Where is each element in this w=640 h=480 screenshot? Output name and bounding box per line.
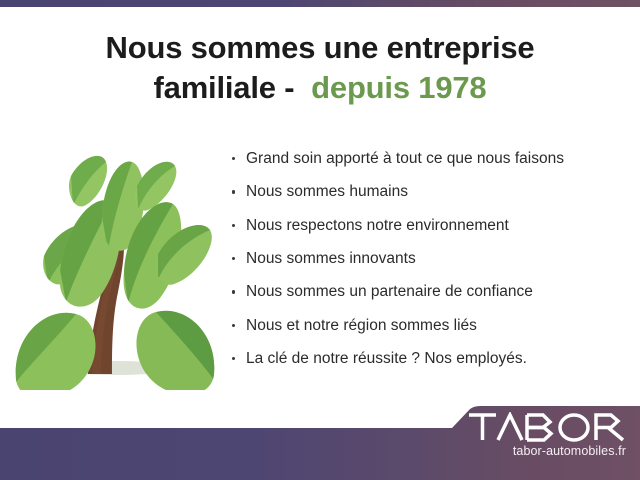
bullet-dot-icon <box>232 190 235 193</box>
list-item-label: Nous sommes humains <box>246 183 408 200</box>
tree-illustration <box>8 150 223 390</box>
brand-tagline: tabor-automobiles.fr <box>456 445 626 459</box>
tabor-logo-icon <box>456 412 626 442</box>
headline-prefix: familiale <box>154 70 276 105</box>
headline-line-2: familiale - depuis 1978 <box>0 68 640 108</box>
headline-accent: depuis 1978 <box>311 70 486 105</box>
list-item: Nous sommes humains <box>228 183 628 201</box>
list-item-label: Grand soin apporté à tout ce que nous fa… <box>246 150 564 167</box>
bullet-dot-icon <box>232 224 235 227</box>
list-item: Nous et notre région sommes liés <box>228 317 628 335</box>
marketing-slide: Nous sommes une entreprise familiale - d… <box>0 0 640 480</box>
list-item: Nous sommes innovants <box>228 250 628 268</box>
headline-dash: - <box>284 70 294 105</box>
list-item: Nous sommes un partenaire de confiance <box>228 283 628 301</box>
list-item: Nous respectons notre environnement <box>228 217 628 235</box>
bullet-dot-icon <box>232 157 235 160</box>
list-item-label: Nous et notre région sommes liés <box>246 317 477 334</box>
brand-lockup: tabor-automobiles.fr <box>456 412 626 459</box>
list-item: La clé de notre réussite ? Nos employés. <box>228 350 628 368</box>
page-title: Nous sommes une entreprise familiale - d… <box>0 28 640 109</box>
top-accent-strip <box>0 0 640 7</box>
bullet-dot-icon <box>232 324 235 327</box>
list-item-label: La clé de notre réussite ? Nos employés. <box>246 350 527 367</box>
headline-line-1: Nous sommes une entreprise <box>0 28 640 68</box>
bullet-dot-icon <box>232 290 235 293</box>
list-item-label: Nous sommes un partenaire de confiance <box>246 283 533 300</box>
bullet-dot-icon <box>232 257 235 260</box>
list-item-label: Nous sommes innovants <box>246 250 416 267</box>
bullet-dot-icon <box>232 357 235 360</box>
value-proposition-list: Grand soin apporté à tout ce que nous fa… <box>228 150 628 383</box>
list-item: Grand soin apporté à tout ce que nous fa… <box>228 150 628 168</box>
list-item-label: Nous respectons notre environnement <box>246 217 509 234</box>
